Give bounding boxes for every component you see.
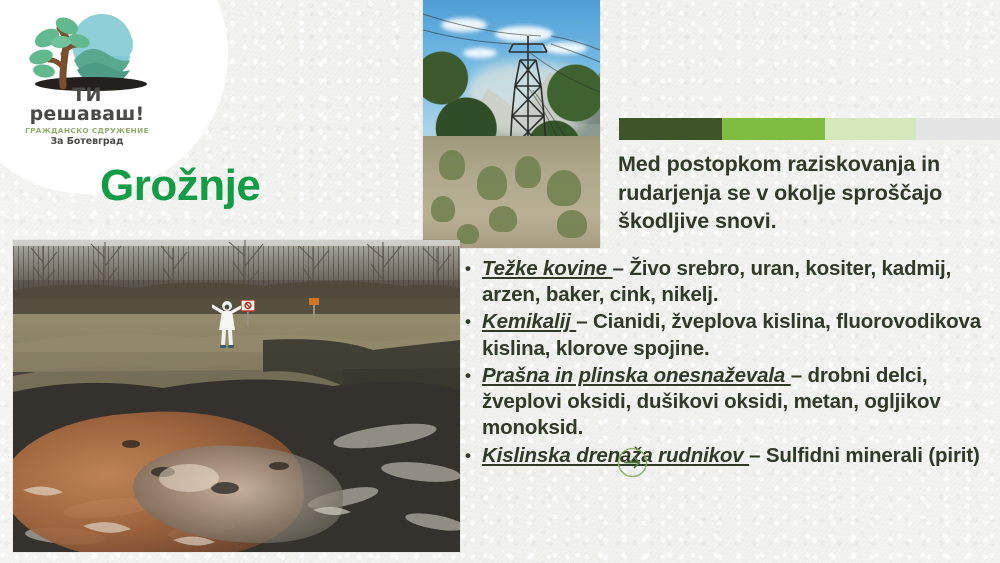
bullet-marker: •: [465, 443, 482, 469]
logo-subtitle: ГРАЖДАНСКО СДРУЖЕНИЕ: [19, 126, 155, 135]
list-item: • Kemikalij – Cianidi, žveplova kislina,…: [465, 309, 993, 361]
progress-segment-1: [619, 118, 722, 140]
lead-paragraph: Med postopkom raziskovanja in rudarjenja…: [618, 150, 978, 236]
hazards-list: • Težke kovine – Živo srebro, uran, kosi…: [465, 256, 993, 470]
logo-title: ТИ решаваш!: [19, 86, 155, 124]
list-item: • Prašna in plinska onesnaževala – drobn…: [465, 363, 993, 442]
list-item-term: Težke kovine: [482, 257, 613, 280]
logo-subtitle-secondary: За Ботевград: [19, 136, 155, 147]
slide-canvas: ТИ решаваш! ГРАЖДАНСКО СДРУЖЕНИЕ За Боте…: [0, 0, 1000, 563]
circle-arrow-right-icon[interactable]: [617, 447, 648, 478]
distant-marker: [307, 298, 323, 318]
progress-segment-4: [916, 118, 1000, 140]
list-item: • Težke kovine – Živo srebro, uran, kosi…: [465, 256, 993, 308]
progress-bar[interactable]: [619, 118, 1000, 140]
bullet-marker: •: [465, 309, 482, 361]
photo-power-line-tower: [423, 0, 600, 248]
list-item-term: Kemikalij: [482, 310, 576, 333]
list-item-term: Kislinska drenaža rudnikov: [482, 444, 749, 467]
bullet-marker: •: [465, 363, 482, 442]
progress-segment-2: [722, 118, 825, 140]
photo-contaminated-site: [13, 240, 460, 552]
progress-segment-3: [825, 118, 916, 140]
page-title: Grožnje: [100, 163, 260, 209]
hazmat-worker-figure: [212, 300, 242, 350]
bullet-marker: •: [465, 256, 482, 308]
list-item-term: Prašna in plinska onesnaževala: [482, 364, 791, 387]
list-item: • Kislinska drenaža rudnikov – Sulfidni …: [465, 443, 993, 469]
logo-block: ТИ решаваш! ГРАЖДАНСКО СДРУЖЕНИЕ За Боте…: [19, 8, 155, 130]
warning-sign: [241, 300, 255, 326]
list-item-detail: – Sulfidni minerali (pirit): [749, 444, 980, 467]
